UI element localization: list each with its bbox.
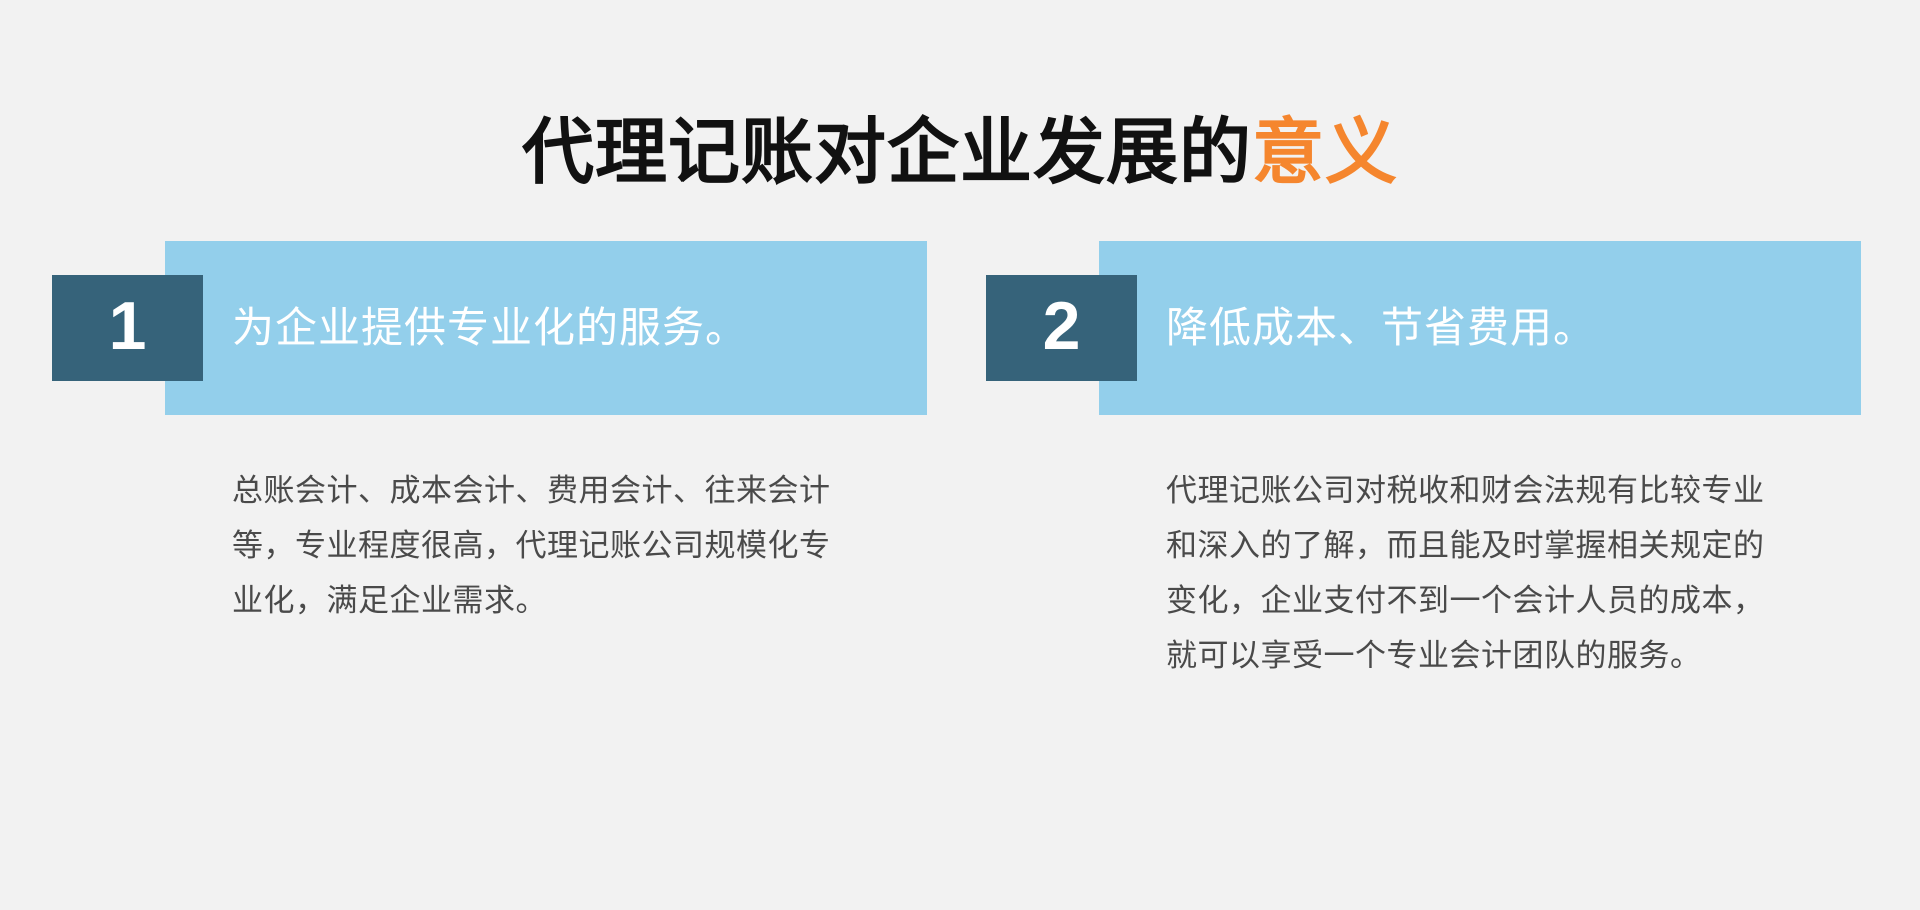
- card-1-number-badge: 1: [52, 275, 203, 381]
- page-title-accent: 意义: [1252, 113, 1398, 193]
- card-1-number: 1: [109, 292, 147, 360]
- card-2-heading: 降低成本、节省费用。: [1166, 291, 1596, 365]
- card-2-body: 代理记账公司对税收和财会法规有比较专业和深入的了解，而且能及时掌握相关规定的变化…: [1166, 463, 1786, 683]
- card-1-heading: 为企业提供专业化的服务。: [232, 291, 748, 365]
- card-2-number-badge: 2: [986, 275, 1137, 381]
- page-title: 代理记账对企业发展的意义: [0, 110, 1920, 196]
- slide-canvas: 代理记账对企业发展的意义 1 为企业提供专业化的服务。 总账会计、成本会计、费用…: [0, 0, 1920, 910]
- card-2-number: 2: [1043, 292, 1081, 360]
- page-title-main: 代理记账对企业发展的: [522, 113, 1252, 193]
- card-1-body: 总账会计、成本会计、费用会计、往来会计等，专业程度很高，代理记账公司规模化专业化…: [232, 463, 852, 628]
